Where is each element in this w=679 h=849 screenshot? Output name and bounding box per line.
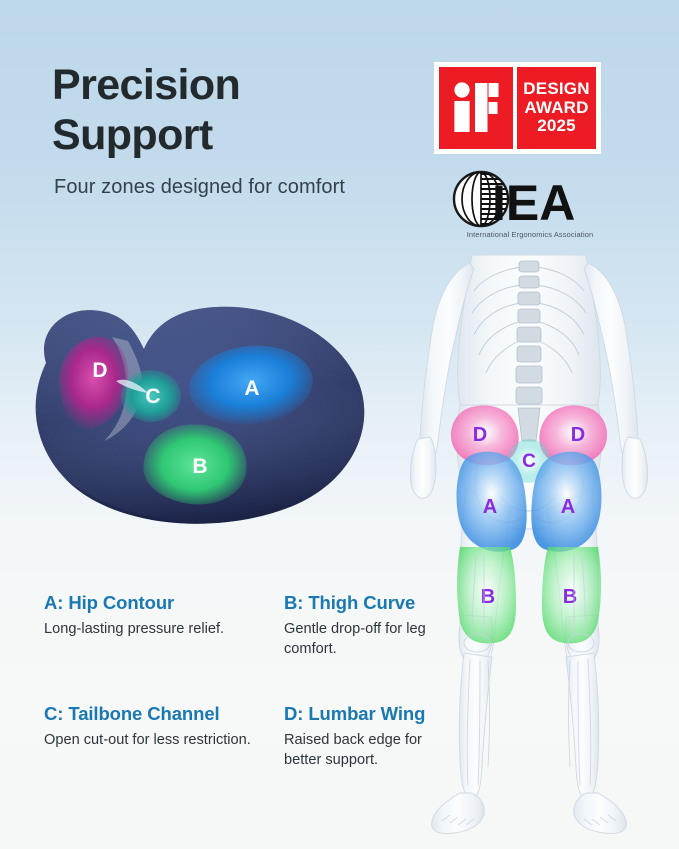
zone-legend: A: Hip Contour Long-lasting pressure rel… xyxy=(44,592,444,770)
anatomy-zone-d-right-label: D xyxy=(571,424,585,446)
cushion-zone-a-label: A xyxy=(244,377,259,400)
page-title: Precision Support xyxy=(52,60,382,160)
cushion-svg: D C A B xyxy=(8,285,388,535)
if-award-line1: DESIGN xyxy=(523,80,589,98)
anatomy-zone-b-left: B xyxy=(457,547,516,643)
anatomy-zone-a-left-label: A xyxy=(483,496,497,518)
legend-item-b-heading: B: Thigh Curve xyxy=(284,592,454,614)
anatomy-zone-c-label: C xyxy=(522,451,536,472)
page-title-line1: Precision xyxy=(52,61,240,109)
legend-item-b-body: Gentle drop-off for leg comfort. xyxy=(284,619,454,659)
legend-item-d: D: Lumbar Wing Raised back edge for bett… xyxy=(284,703,454,770)
iea-wordmark-row: IEA xyxy=(452,170,608,228)
infographic-page: Precision Support Four zones designed fo… xyxy=(0,0,679,849)
anatomy-zone-b-right: B xyxy=(542,547,601,643)
anatomy-zone-b-right-label: B xyxy=(563,586,577,608)
iea-globe-icon: IEA xyxy=(452,170,608,228)
cushion-zone-b-label: B xyxy=(192,455,207,478)
iea-caption: International Ergonomics Association xyxy=(452,230,608,239)
legend-item-c: C: Tailbone Channel Open cut-out for les… xyxy=(44,703,284,770)
if-logo-panel xyxy=(439,67,513,149)
if-award-line2: AWARD xyxy=(524,99,588,117)
if-design-award-badge: DESIGN AWARD 2025 xyxy=(434,62,601,154)
svg-text:IEA: IEA xyxy=(492,175,575,228)
if-award-line3: 2025 xyxy=(537,117,576,135)
legend-item-c-heading: C: Tailbone Channel xyxy=(44,703,284,725)
iea-logo: IEA International Ergonomics Association xyxy=(452,170,608,248)
legend-item-a: A: Hip Contour Long-lasting pressure rel… xyxy=(44,592,284,659)
zone-legend-grid: A: Hip Contour Long-lasting pressure rel… xyxy=(44,592,444,770)
legend-item-a-body: Long-lasting pressure relief. xyxy=(44,619,284,639)
anatomy-zone-b-left-label: B xyxy=(481,586,495,608)
if-logo-icon xyxy=(453,82,499,134)
legend-item-a-heading: A: Hip Contour xyxy=(44,592,284,614)
legend-item-d-heading: D: Lumbar Wing xyxy=(284,703,454,725)
cushion-illustration: D C A B xyxy=(8,285,388,535)
if-award-text-panel: DESIGN AWARD 2025 xyxy=(517,67,596,149)
cushion-zone-b: B xyxy=(143,424,246,504)
legend-item-d-body: Raised back edge for better support. xyxy=(284,730,454,770)
page-subtitle: Four zones designed for comfort xyxy=(54,176,345,199)
cushion-zone-d-label: D xyxy=(92,359,107,382)
anatomy-zone-d-left-label: D xyxy=(473,424,487,446)
legend-item-b: B: Thigh Curve Gentle drop-off for leg c… xyxy=(284,592,454,659)
legend-item-c-body: Open cut-out for less restriction. xyxy=(44,730,284,750)
cushion-zone-c-label: C xyxy=(145,385,160,408)
anatomy-zone-a-right-label: A xyxy=(561,496,575,518)
page-title-line2: Support xyxy=(52,110,382,160)
